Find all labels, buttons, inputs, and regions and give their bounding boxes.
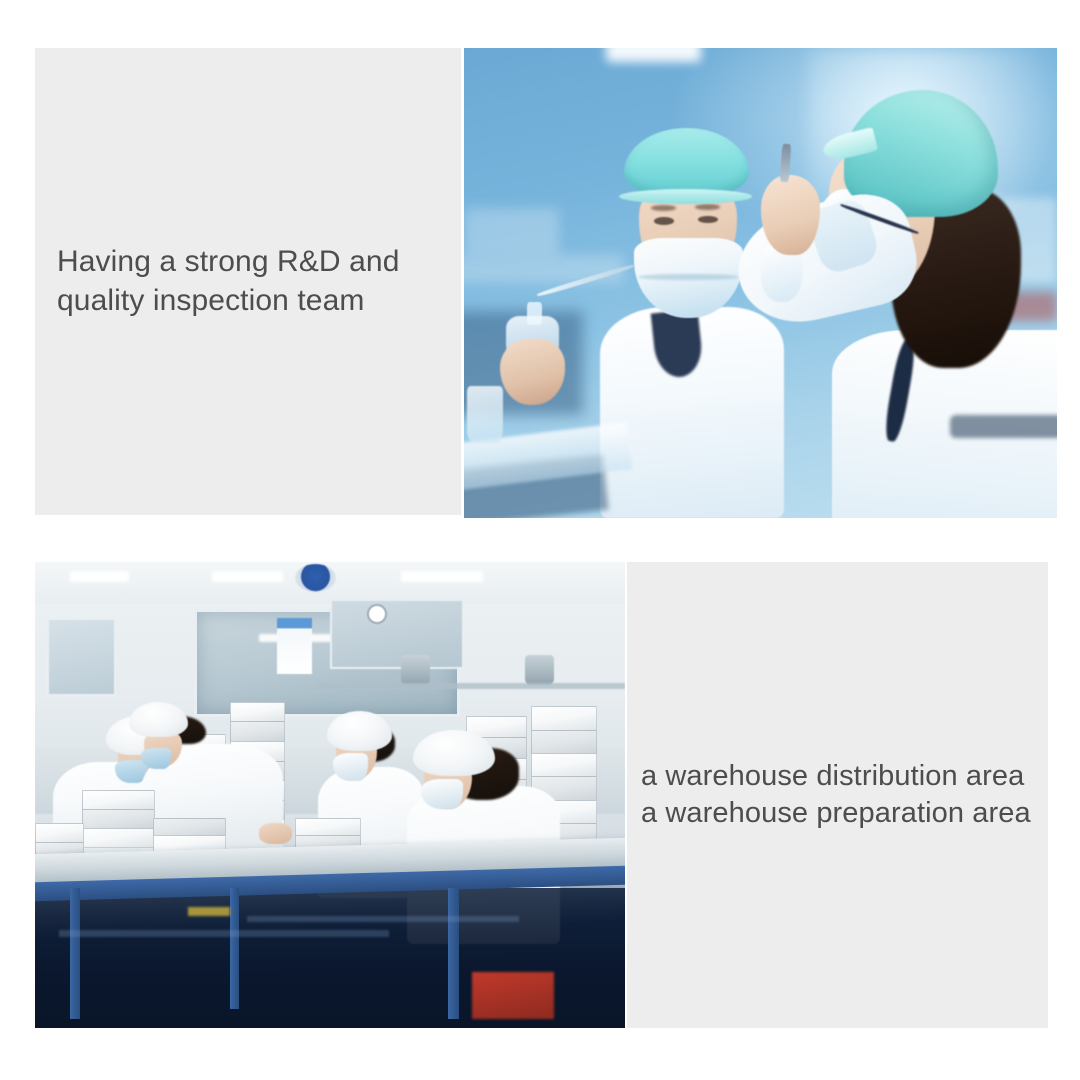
lab-bench-blur xyxy=(464,255,624,283)
worker-left-hairnet-brim xyxy=(619,189,752,204)
raised-hand xyxy=(761,175,820,255)
carton-stack-item xyxy=(531,730,598,755)
steel-pot-1 xyxy=(401,655,431,685)
red-bin xyxy=(472,972,555,1019)
ceiling-light-3-icon xyxy=(401,571,484,581)
lower-hand xyxy=(500,339,565,405)
worker-4-mask xyxy=(421,779,462,809)
warehouse-caption-panel: a warehouse distribution area a warehous… xyxy=(627,562,1048,1028)
ceiling-light-1-icon xyxy=(70,571,129,581)
table-leg xyxy=(230,888,239,1009)
wall-notice-board xyxy=(277,618,312,674)
worker-3-mask xyxy=(333,753,368,781)
worker-left-eye-l xyxy=(654,217,674,225)
lab-quality-inspection-photo xyxy=(464,48,1057,518)
table-rail xyxy=(59,930,389,937)
warehouse-packing-photo xyxy=(35,562,625,1028)
carton-stack-item xyxy=(230,721,285,743)
table-leg xyxy=(70,888,79,1018)
carton-stack-item xyxy=(531,753,598,778)
carton-stack-item xyxy=(230,702,285,724)
table-carton xyxy=(82,790,155,811)
lab-equipment-blur xyxy=(464,208,559,255)
ceiling-light-2-icon xyxy=(212,571,283,581)
worker-left-hairnet xyxy=(624,128,749,199)
slide-canvas: Having a strong R&D and quality inspecti… xyxy=(0,0,1080,1080)
worker-3-hairnet xyxy=(327,711,392,751)
carton-stack-item xyxy=(531,706,598,731)
steel-pot-2 xyxy=(525,655,555,685)
research-quality-caption-panel: Having a strong R&D and quality inspecti… xyxy=(35,48,461,515)
beaker-glassware xyxy=(467,386,503,442)
table-leg xyxy=(448,888,459,1018)
research-quality-caption-text: Having a strong R&D and quality inspecti… xyxy=(35,243,409,320)
table-rail xyxy=(247,916,518,922)
lab-stool-blur xyxy=(950,415,1057,439)
worker-left-brow-l xyxy=(651,205,676,211)
upper-window xyxy=(330,599,464,668)
worker-left-mask-fold xyxy=(638,274,739,281)
table-carton xyxy=(82,809,155,830)
wall-shelf xyxy=(318,683,625,689)
lab-photo-canvas xyxy=(464,48,1057,518)
table-carton xyxy=(76,828,155,849)
worker-2-hand xyxy=(259,823,291,844)
table-carton xyxy=(35,823,84,844)
side-window xyxy=(47,618,116,697)
worker-left-brow-r xyxy=(695,204,720,210)
round-wall-sign-icon xyxy=(295,564,336,592)
warehouse-photo-canvas xyxy=(35,562,625,1028)
lab-ceiling-light-icon xyxy=(606,48,701,62)
warehouse-caption-text: a warehouse distribution area a warehous… xyxy=(627,758,1037,832)
floor-marking xyxy=(188,907,229,916)
